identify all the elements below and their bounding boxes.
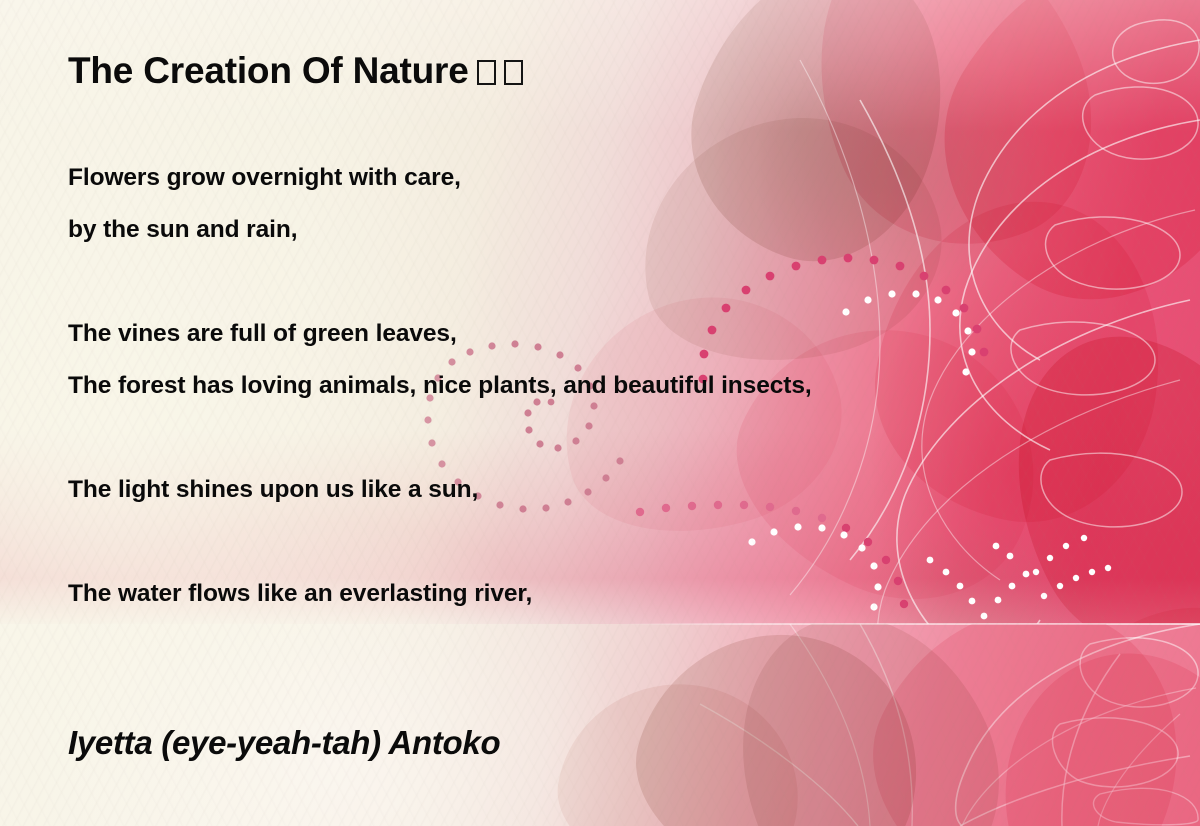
poem-body: Flowers grow overnight with care, by the… <box>68 152 1078 620</box>
poem-card: .wline { fill:none; stroke:#ffffff; stro… <box>0 0 1200 826</box>
missing-glyph-box-icon <box>504 60 523 85</box>
poem-line: The forest has loving animals, nice plan… <box>68 360 1078 412</box>
missing-glyph-box-icon <box>477 60 496 85</box>
poem-author: Iyetta (eye-yeah-tah) Antoko <box>68 724 500 762</box>
poem-line-blank <box>68 516 1078 568</box>
poem-text-block: The Creation Of Nature Flowers grow over… <box>68 0 1148 826</box>
poem-line: by the sun and rain, <box>68 204 1078 256</box>
poem-title-text: The Creation Of Nature <box>68 50 469 91</box>
poem-line-blank <box>68 256 1078 308</box>
poem-line: The vines are full of green leaves, <box>68 308 1078 360</box>
poem-line-blank <box>68 412 1078 464</box>
poem-line: The light shines upon us like a sun, <box>68 464 1078 516</box>
poem-line: The water flows like an everlasting rive… <box>68 568 1078 620</box>
poem-line: Flowers grow overnight with care, <box>68 152 1078 204</box>
poem-title: The Creation Of Nature <box>68 50 523 92</box>
